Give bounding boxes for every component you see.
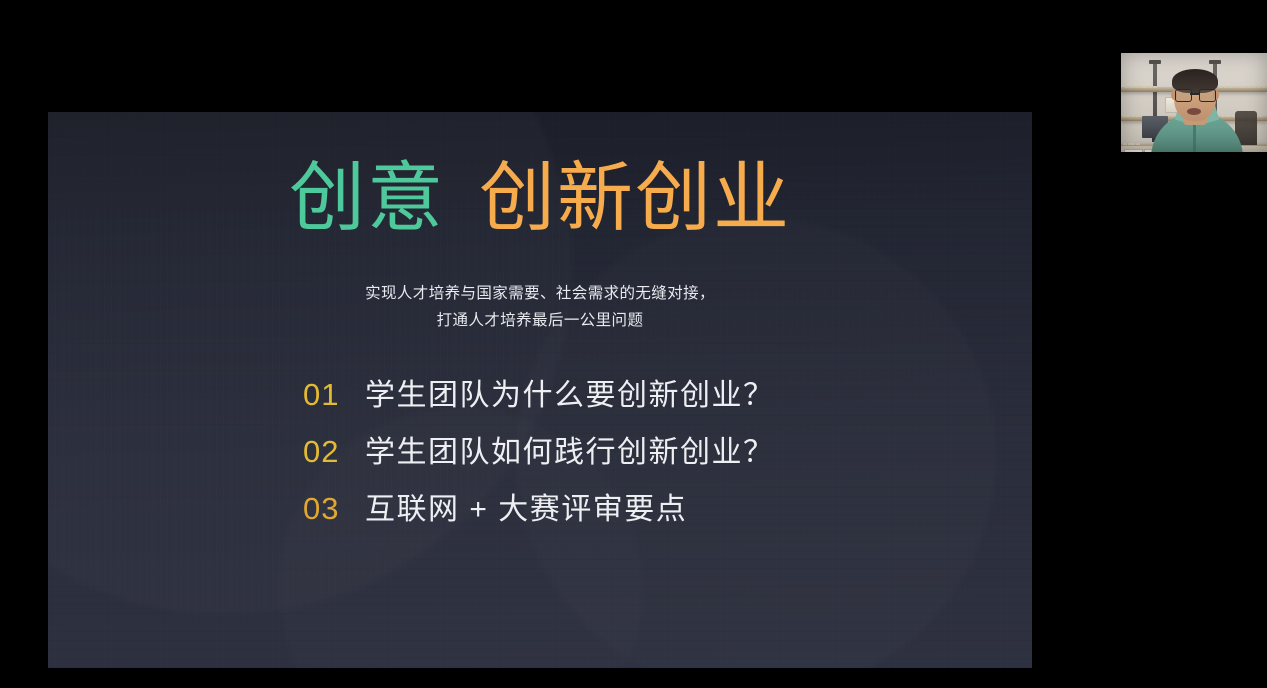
subtitle-line-2: 打通人才培养最后一公里问题 — [48, 307, 1032, 334]
agenda-number-03: 03 — [303, 491, 365, 527]
glasses-lens-left — [1175, 89, 1192, 102]
webcam-scene — [1121, 53, 1267, 152]
agenda-item-01: 01 学生团队为什么要创新创业？ — [303, 370, 775, 427]
slide-title: 创意创新创业 — [48, 160, 1032, 238]
glasses-icon — [1174, 89, 1216, 101]
presenter-video-thumbnail[interactable] — [1121, 53, 1267, 152]
agenda-item-03: 03 互联网 + 大赛评审要点 — [303, 484, 775, 541]
shelf-post-cap-left — [1149, 60, 1161, 64]
cabinet-box-1 — [1124, 149, 1143, 152]
agenda-number-02: 02 — [303, 434, 365, 470]
agenda-text-02: 学生团队如何践行创新创业？ — [365, 427, 775, 471]
books-group-5 — [1123, 123, 1140, 145]
books-group-3 — [1123, 95, 1150, 117]
agenda-text-01: 学生团队为什么要创新创业？ — [365, 370, 775, 414]
books-group-2 — [1219, 66, 1266, 88]
title-part-creativity: 创意 — [289, 156, 445, 241]
subtitle-line-1: 实现人才培养与国家需要、社会需求的无缝对接， — [48, 280, 1032, 307]
agenda-number-01: 01 — [303, 377, 365, 413]
shelf-post-cap-right — [1209, 60, 1221, 64]
glasses-lens-right — [1199, 89, 1216, 102]
glasses-bridge — [1190, 93, 1199, 95]
presentation-slide[interactable]: 创意创新创业 实现人才培养与国家需要、社会需求的无缝对接， 打通人才培养最后一公… — [48, 112, 1032, 668]
slide-subtitle: 实现人才培养与国家需要、社会需求的无缝对接， 打通人才培养最后一公里问题 — [48, 280, 1032, 334]
title-part-innovation-entrepreneurship: 创新创业 — [479, 156, 791, 241]
agenda-list: 01 学生团队为什么要创新创业？ 02 学生团队如何践行创新创业？ 03 互联网… — [303, 370, 775, 541]
books-group-1 — [1125, 66, 1157, 88]
presenter-mouth — [1187, 108, 1201, 115]
slide-content: 创意创新创业 实现人才培养与国家需要、社会需求的无缝对接， 打通人才培养最后一公… — [48, 112, 1032, 668]
screen-share-stage: 创意创新创业 实现人才培养与国家需要、社会需求的无缝对接， 打通人才培养最后一公… — [0, 0, 1267, 688]
agenda-item-02: 02 学生团队如何践行创新创业？ — [303, 427, 775, 484]
agenda-text-03: 互联网 + 大赛评审要点 — [365, 484, 687, 528]
